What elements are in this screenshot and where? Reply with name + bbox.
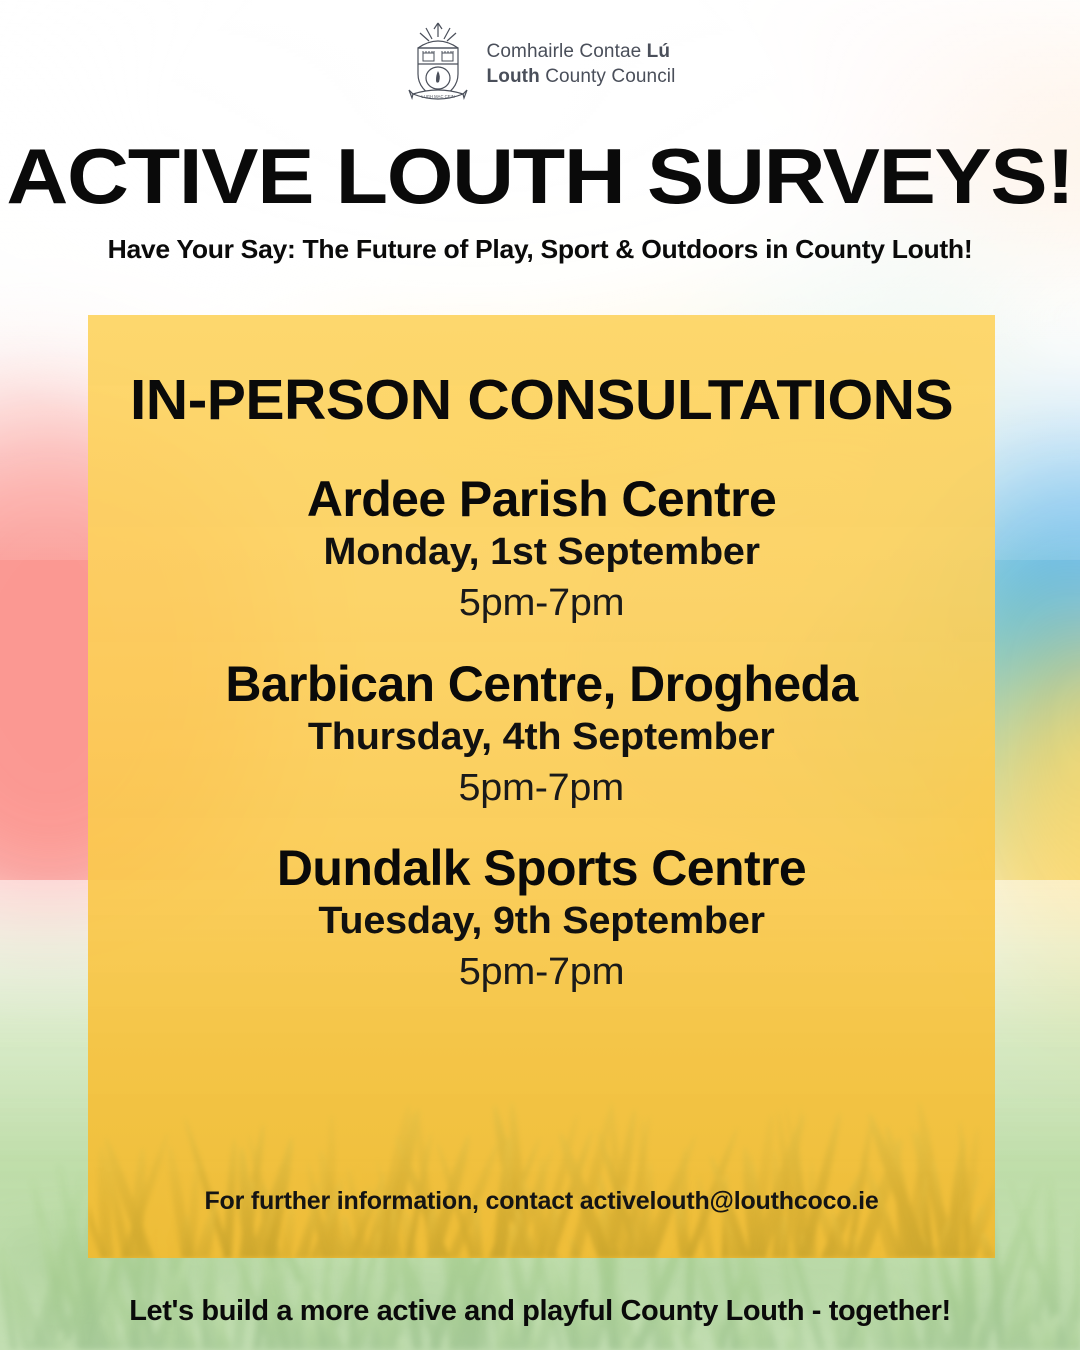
event-date: Monday, 1st September xyxy=(297,527,785,577)
svg-text:LUGH MAC CEIN: LUGH MAC CEIN xyxy=(421,94,454,99)
event-item: Barbican Centre, Drogheda Thursday, 4th … xyxy=(225,656,857,815)
logo-irish-light: Comhairle Contae xyxy=(487,41,647,62)
council-logo-text: Comhairle Contae Lú Louth County Council xyxy=(487,39,676,89)
poster-subtitle: Have Your Say: The Future of Play, Sport… xyxy=(0,234,1080,265)
event-venue: Ardee Parish Centre xyxy=(307,471,776,527)
logo-line-irish: Comhairle Contae Lú xyxy=(487,39,676,64)
event-date: Tuesday, 9th September xyxy=(266,896,816,946)
event-item: Ardee Parish Centre Monday, 1st Septembe… xyxy=(307,471,776,630)
poster-root: LUGH MAC CEIN Comhairle Contae Lú Louth … xyxy=(0,0,1080,1350)
event-venue: Barbican Centre, Drogheda xyxy=(225,656,857,712)
logo-line-english: Louth County Council xyxy=(487,64,676,89)
event-venue: Dundalk Sports Centre xyxy=(277,840,806,896)
poster-title: ACTIVE LOUTH SURVEYS! xyxy=(0,139,1080,214)
logo-english-bold: Louth xyxy=(487,66,540,87)
event-date: Thursday, 4th September xyxy=(213,712,871,762)
event-time: 5pm-7pm xyxy=(297,577,785,629)
logo-irish-bold: Lú xyxy=(647,41,670,62)
event-item: Dundalk Sports Centre Tuesday, 9th Septe… xyxy=(277,840,806,999)
event-time: 5pm-7pm xyxy=(213,762,871,814)
logo-english-light: County Council xyxy=(540,66,676,87)
event-time: 5pm-7pm xyxy=(266,946,816,998)
contact-line: For further information, contact activel… xyxy=(88,1187,995,1216)
consultations-panel: IN-PERSON CONSULTATIONS Ardee Parish Cen… xyxy=(88,315,995,1258)
council-logo: LUGH MAC CEIN Comhairle Contae Lú Louth … xyxy=(0,20,1080,108)
panel-heading: IN-PERSON CONSULTATIONS xyxy=(130,367,953,433)
footer-tagline: Let's build a more active and playful Co… xyxy=(0,1295,1080,1328)
louth-coat-of-arms-icon: LUGH MAC CEIN xyxy=(405,20,471,108)
